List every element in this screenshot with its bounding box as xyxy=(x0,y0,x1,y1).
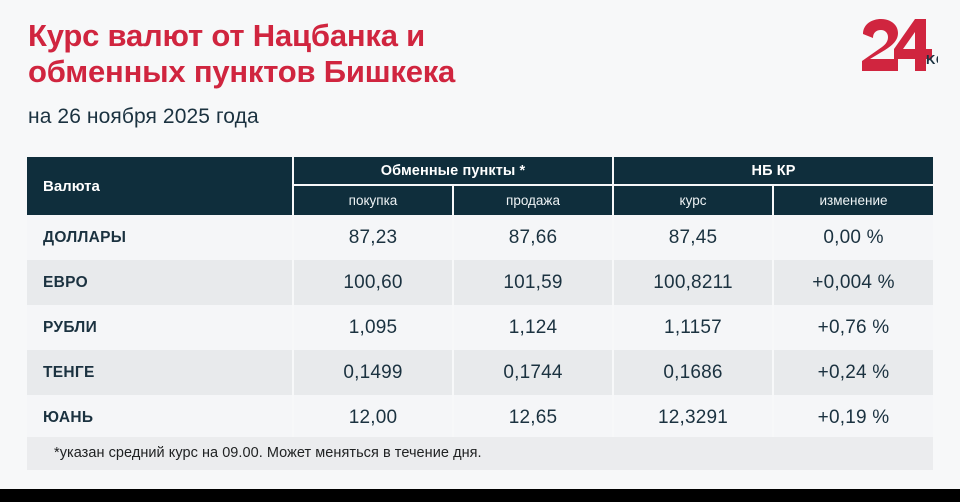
cell-sell: 0,1744 xyxy=(453,350,613,395)
col-header-buy: покупка xyxy=(293,185,453,215)
cell-rate: 1,1157 xyxy=(613,305,773,350)
page-title: Курс валют от Нацбанка и обменных пункто… xyxy=(28,18,728,90)
infographic-page: Курс валют от Нацбанка и обменных пункто… xyxy=(0,0,960,502)
cell-rate: 87,45 xyxy=(613,215,773,260)
cell-rate: 100,8211 xyxy=(613,260,773,305)
table-row: ЮАНЬ 12,00 12,65 12,3291 +0,19 % xyxy=(27,395,933,440)
rates-table: Валюта Обменные пункты * НБ КР покупка п… xyxy=(27,157,933,440)
table-group-header-row: Валюта Обменные пункты * НБ КР xyxy=(27,157,933,185)
cell-buy: 1,095 xyxy=(293,305,453,350)
col-header-sell: продажа xyxy=(453,185,613,215)
col-group-header-nbkr: НБ КР xyxy=(613,157,933,185)
cell-sell: 87,66 xyxy=(453,215,613,260)
24kg-logo: KG xyxy=(858,16,938,76)
col-header-change: изменение xyxy=(773,185,933,215)
table-row: РУБЛИ 1,095 1,124 1,1157 +0,76 % xyxy=(27,305,933,350)
cell-sell: 1,124 xyxy=(453,305,613,350)
col-header-rate: курс xyxy=(613,185,773,215)
cell-rate: 12,3291 xyxy=(613,395,773,440)
table-footnote: *указан средний курс на 09.00. Может мен… xyxy=(27,437,933,470)
cell-currency: РУБЛИ xyxy=(27,305,293,350)
cell-currency: ТЕНГЕ xyxy=(27,350,293,395)
col-group-header-exchange-points: Обменные пункты * xyxy=(293,157,613,185)
header: Курс валют от Нацбанка и обменных пункто… xyxy=(0,0,960,150)
cell-currency: ДОЛЛАРЫ xyxy=(27,215,293,260)
cell-buy: 100,60 xyxy=(293,260,453,305)
cell-rate: 0,1686 xyxy=(613,350,773,395)
cell-sell: 12,65 xyxy=(453,395,613,440)
table-row: ЕВРО 100,60 101,59 100,8211 +0,004 % xyxy=(27,260,933,305)
table-row: ДОЛЛАРЫ 87,23 87,66 87,45 0,00 % xyxy=(27,215,933,260)
logo-mark: KG xyxy=(858,16,938,76)
table-row: ТЕНГЕ 0,1499 0,1744 0,1686 +0,24 % xyxy=(27,350,933,395)
cell-buy: 87,23 xyxy=(293,215,453,260)
cell-sell: 101,59 xyxy=(453,260,613,305)
col-header-currency: Валюта xyxy=(27,157,293,215)
table-body: ДОЛЛАРЫ 87,23 87,66 87,45 0,00 % ЕВРО 10… xyxy=(27,215,933,440)
page-subtitle: на 26 ноября 2025 года xyxy=(28,104,259,130)
cell-change: 0,00 % xyxy=(773,215,933,260)
cell-change: +0,24 % xyxy=(773,350,933,395)
cell-change: +0,19 % xyxy=(773,395,933,440)
cell-buy: 12,00 xyxy=(293,395,453,440)
cell-currency: ЮАНЬ xyxy=(27,395,293,440)
rates-table-container: Валюта Обменные пункты * НБ КР покупка п… xyxy=(27,157,933,440)
cell-currency: ЕВРО xyxy=(27,260,293,305)
cell-change: +0,004 % xyxy=(773,260,933,305)
cell-buy: 0,1499 xyxy=(293,350,453,395)
cell-change: +0,76 % xyxy=(773,305,933,350)
svg-text:KG: KG xyxy=(926,52,938,67)
table-head: Валюта Обменные пункты * НБ КР покупка п… xyxy=(27,157,933,215)
bottom-bar xyxy=(0,489,960,502)
